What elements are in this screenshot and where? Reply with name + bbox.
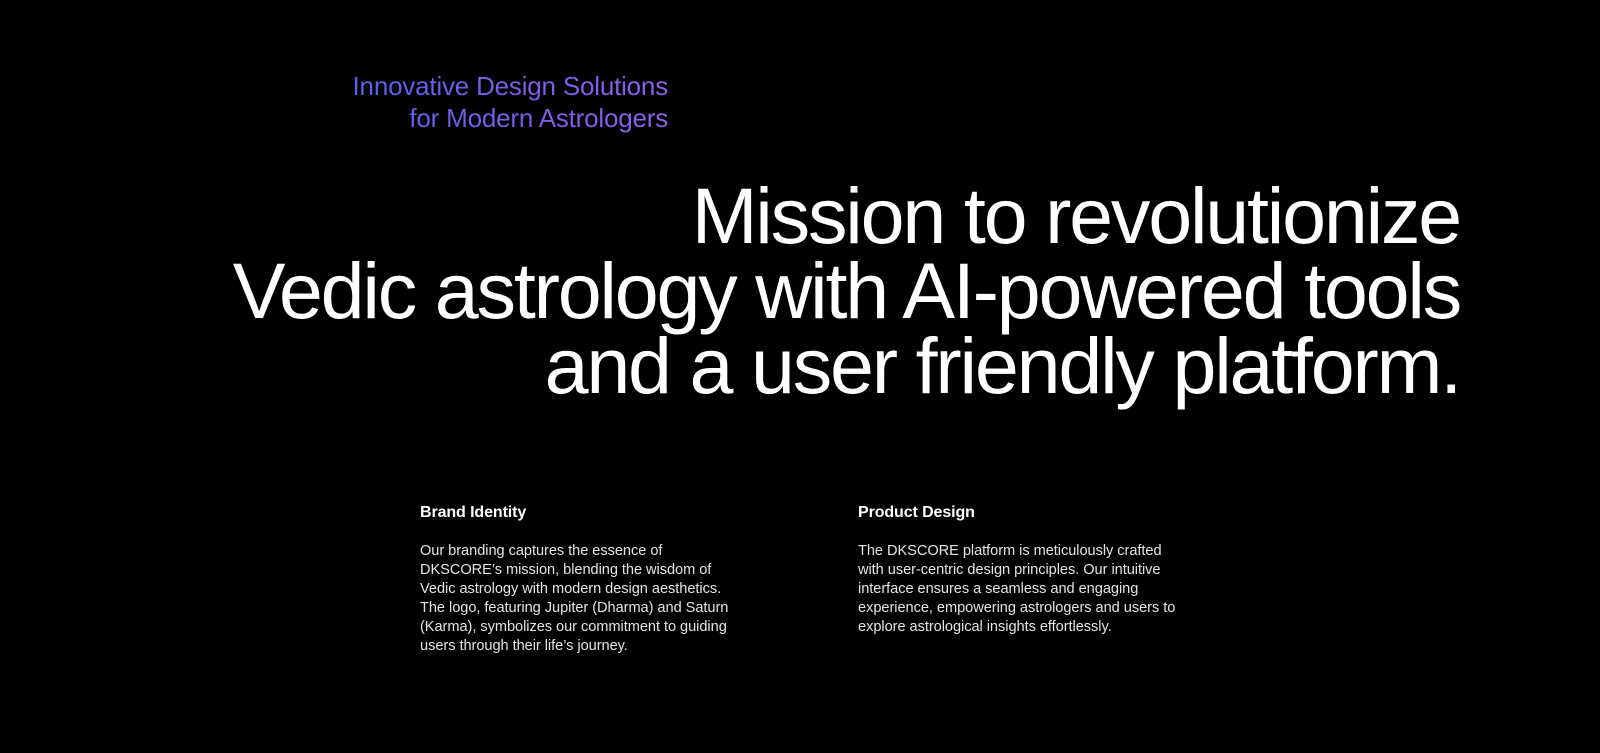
- column-heading: Brand Identity: [420, 503, 748, 523]
- column-heading: Product Design: [858, 503, 1186, 523]
- column-brand-identity: Brand Identity Our branding captures the…: [420, 503, 748, 656]
- feature-columns: Brand Identity Our branding captures the…: [420, 503, 1420, 656]
- column-body-text: The DKSCORE platform is meticulously cra…: [858, 542, 1186, 637]
- hero-headline: Mission to revolutionize Vedic astrology…: [0, 178, 1460, 403]
- page-root: Innovative Design Solutions for Modern A…: [0, 0, 1600, 753]
- eyebrow-tagline: Innovative Design Solutions for Modern A…: [0, 70, 668, 134]
- column-product-design: Product Design The DKSCORE platform is m…: [858, 503, 1186, 656]
- column-body-text: Our branding captures the essence of DKS…: [420, 542, 748, 656]
